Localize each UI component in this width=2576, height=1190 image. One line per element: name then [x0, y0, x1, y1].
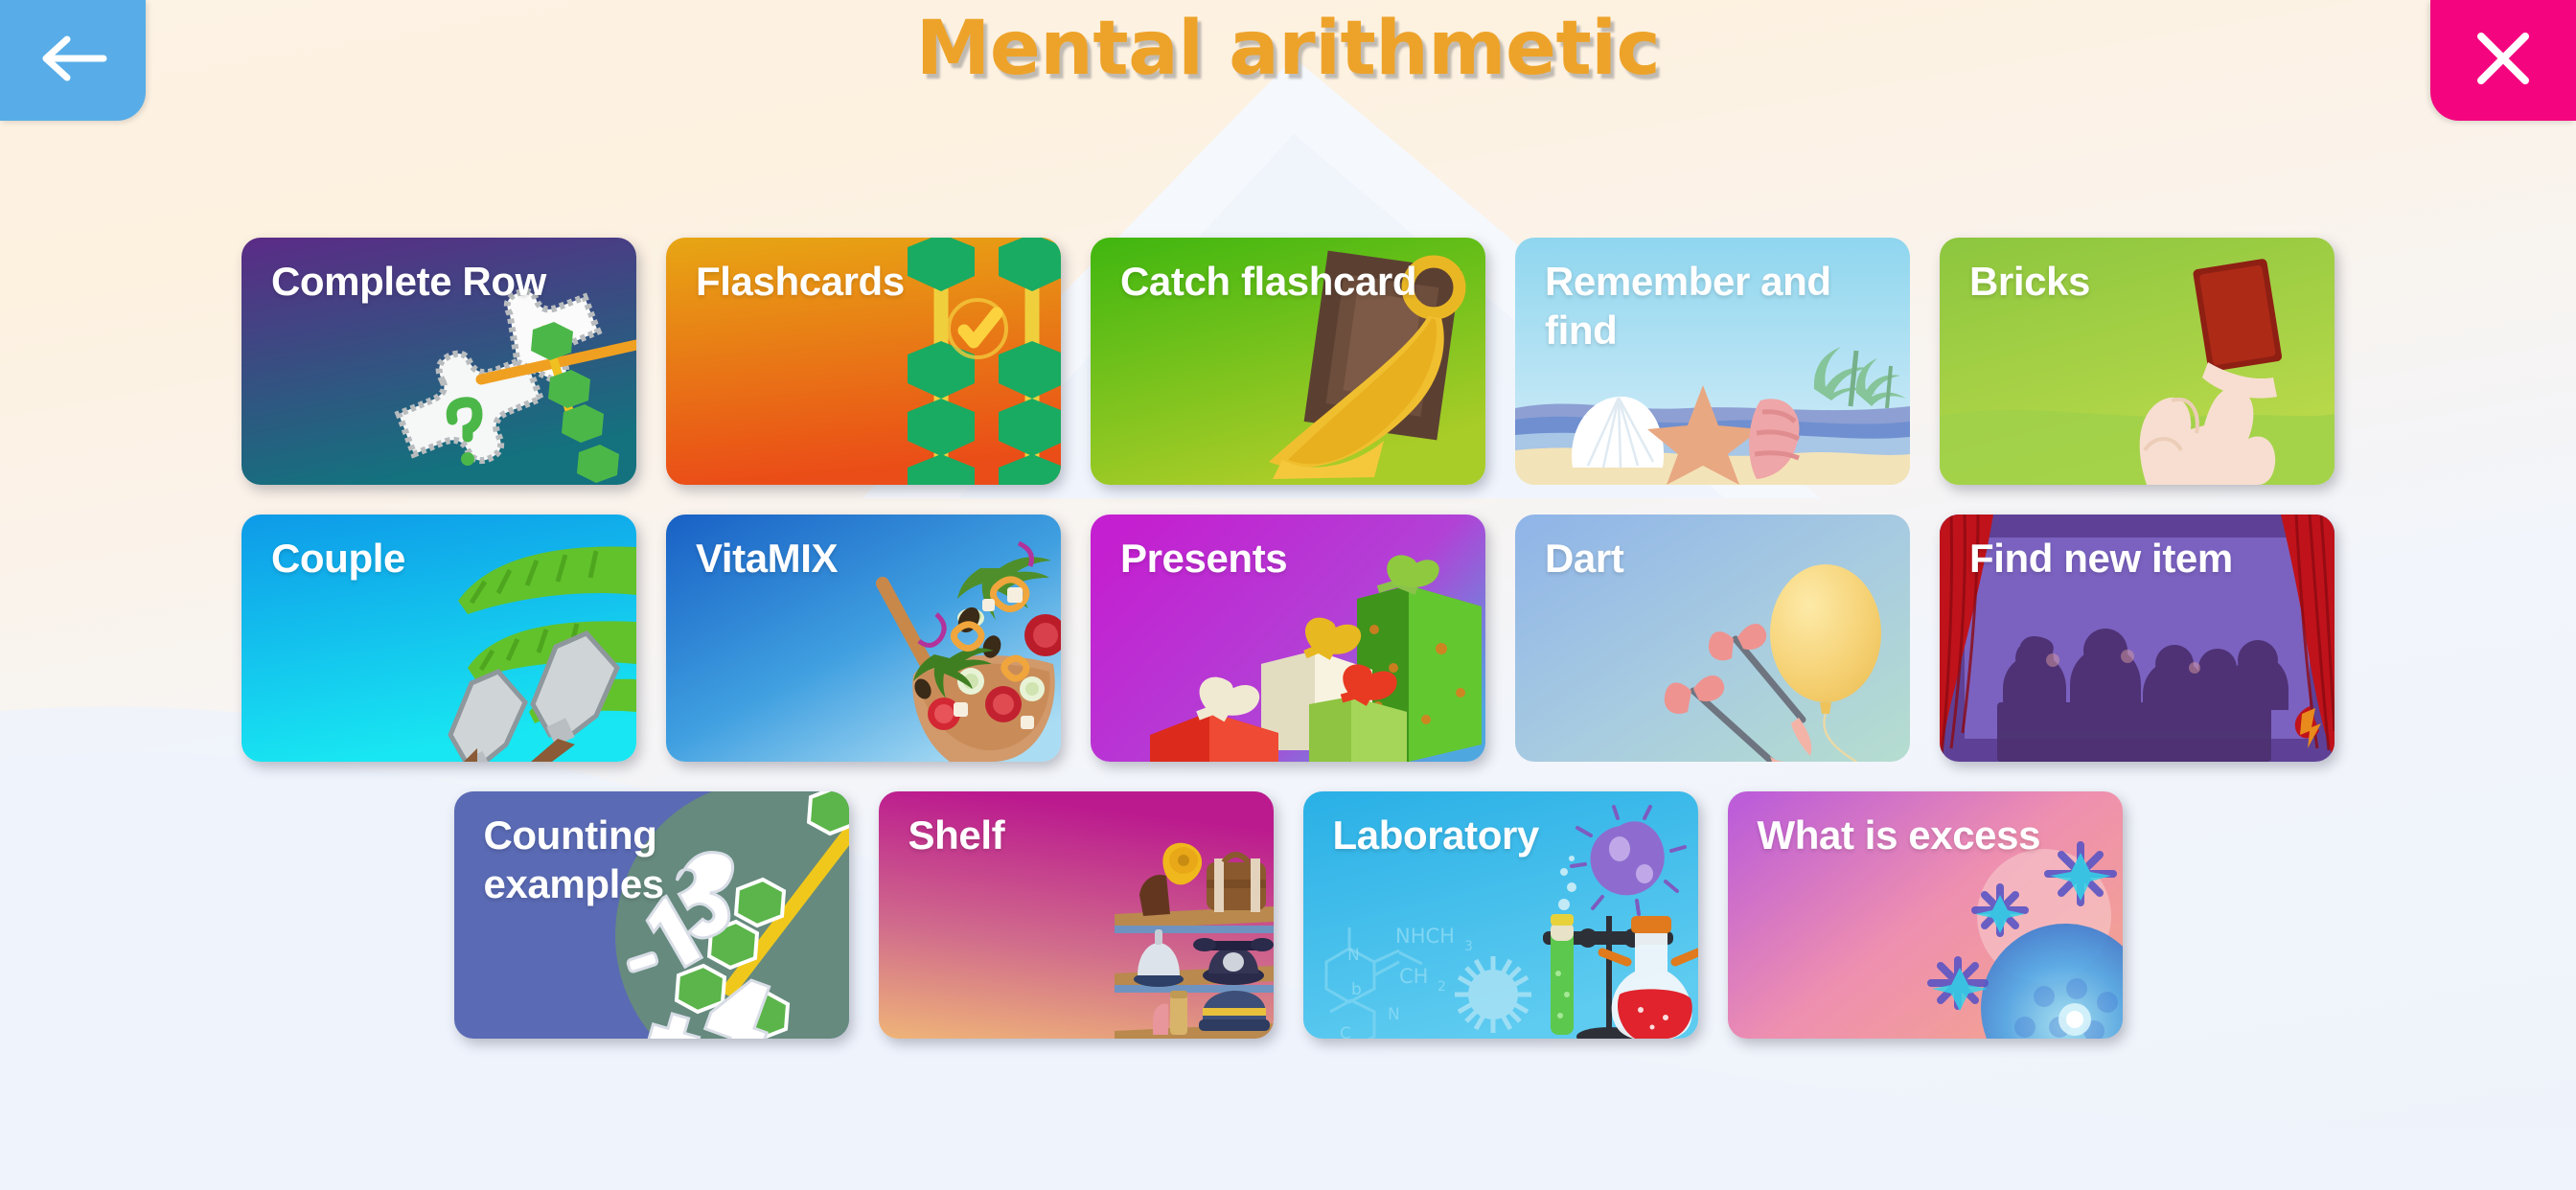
frame-ribbon-art: [1091, 238, 1485, 485]
hand-brick-art: [1940, 238, 2334, 485]
svg-text:b: b: [1351, 980, 1362, 999]
game-tile-presents[interactable]: Presents: [1091, 515, 1485, 762]
stage-curtain-art: [1940, 515, 2334, 762]
game-tile-vitamix[interactable]: VitaMIX: [666, 515, 1061, 762]
game-tile-shelf[interactable]: Shelf: [879, 791, 1274, 1039]
svg-text:3: 3: [1464, 939, 1473, 954]
game-tile-flashcards[interactable]: Flashcards: [666, 238, 1061, 485]
game-tile-remember-and-find[interactable]: Remember and find: [1515, 238, 1910, 485]
page-title: Mental arithmetic: [0, 6, 2576, 92]
game-tile-bricks[interactable]: Bricks: [1940, 238, 2334, 485]
close-button[interactable]: [2430, 0, 2576, 121]
game-tile-what-is-excess[interactable]: What is excess: [1728, 791, 2123, 1039]
shelf-objects-art: [879, 791, 1274, 1039]
balloon-darts-art: [1515, 515, 1910, 762]
abacus-check-art: [666, 238, 1061, 485]
game-tile-dart[interactable]: Dart: [1515, 515, 1910, 762]
game-tile-find-new-item[interactable]: Find new item: [1940, 515, 2334, 762]
svg-text:N: N: [1347, 946, 1360, 965]
gift-boxes-art: [1091, 515, 1485, 762]
leaves-shovels-art: [241, 515, 636, 762]
game-grid: Complete Row: [0, 123, 2576, 1039]
lab-flasks-art: NHCH3 CH2 N b N C: [1303, 791, 1698, 1039]
game-tile-couple[interactable]: Couple: [241, 515, 636, 762]
salad-bowl-art: [666, 515, 1061, 762]
game-tile-laboratory[interactable]: NHCH3 CH2 N b N C: [1303, 791, 1698, 1039]
game-row: Complete Row: [0, 238, 2576, 485]
app-header: Mental arithmetic: [0, 0, 2576, 123]
svg-text:CH: CH: [1399, 965, 1428, 988]
svg-text:N: N: [1388, 1005, 1400, 1024]
svg-text:NHCH: NHCH: [1395, 925, 1455, 948]
game-row: Couple: [0, 515, 2576, 762]
game-tile-counting-examples[interactable]: Counting examples: [454, 791, 849, 1039]
svg-text:C: C: [1340, 1024, 1351, 1039]
beach-scene-art: [1515, 238, 1910, 485]
snowflakes-art: [1728, 791, 2123, 1039]
puzzle-pieces-art: [241, 238, 636, 485]
game-tile-complete-row[interactable]: Complete Row: [241, 238, 636, 485]
numbers-beads-art: [454, 791, 849, 1039]
game-tile-catch-flashcard[interactable]: Catch flashcard: [1091, 238, 1485, 485]
close-x-icon: [2470, 25, 2537, 97]
game-row: Counting examples: [0, 791, 2576, 1039]
svg-text:2: 2: [1437, 979, 1446, 995]
